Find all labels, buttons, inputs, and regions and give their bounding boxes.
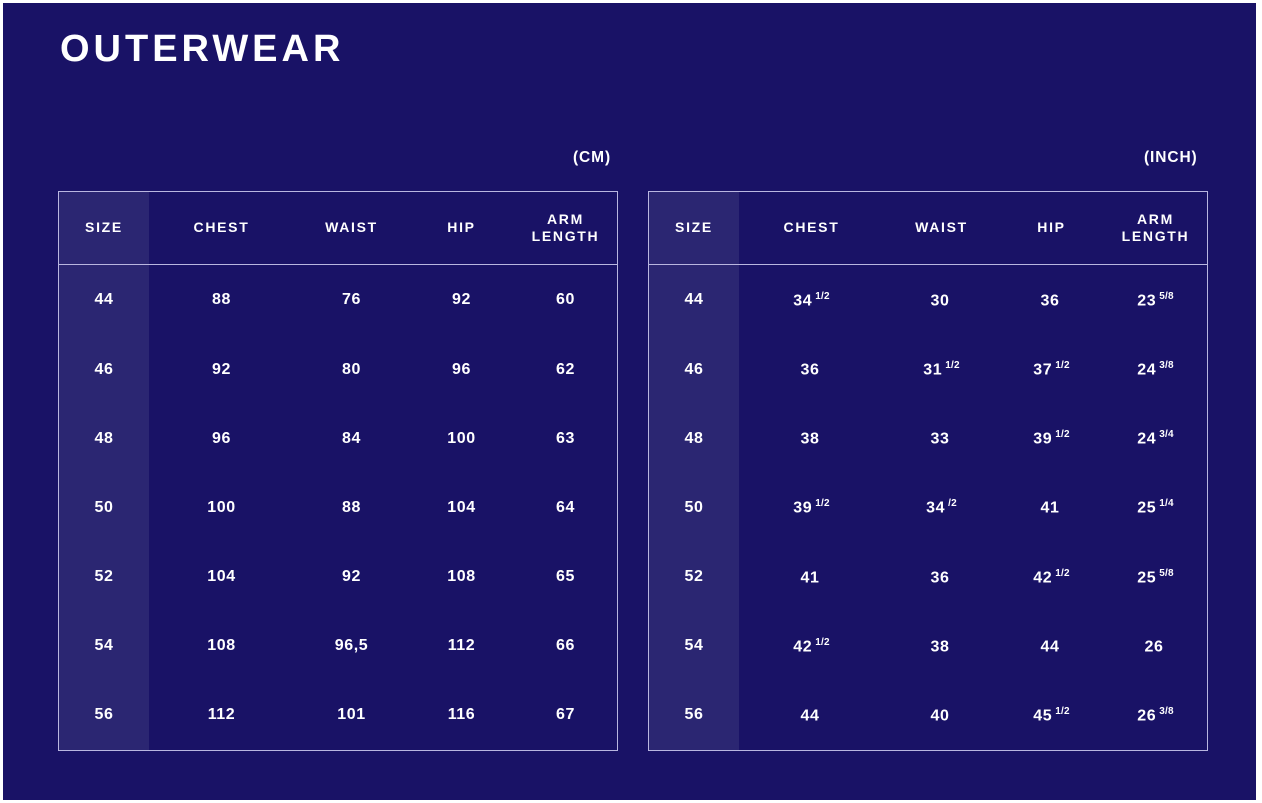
cell-chest: 341/2 bbox=[739, 265, 884, 336]
value: 40 bbox=[931, 707, 950, 724]
cell-hip: 41 bbox=[999, 474, 1104, 543]
table-body-cm: 44 88 76 92 60 46 92 80 96 62 48 96 84 bbox=[59, 265, 617, 751]
fraction: 3/4 bbox=[1159, 429, 1174, 440]
value: 45 bbox=[1033, 707, 1052, 724]
arm-length-line-1: ARM bbox=[547, 211, 584, 227]
value: 39 bbox=[793, 500, 812, 517]
size-chart-page: OUTERWEAR (CM) (INCH) SIZE CHEST WAIST H… bbox=[3, 3, 1256, 800]
value: 33 bbox=[931, 431, 950, 448]
table-header-inch: SIZE CHEST WAIST HIP ARM LENGTH bbox=[649, 192, 1207, 265]
value: 44 bbox=[801, 707, 820, 724]
value: 38 bbox=[931, 638, 950, 655]
unit-label-inch: (INCH) bbox=[1144, 149, 1198, 167]
column-header-hip: HIP bbox=[999, 192, 1104, 265]
cell-hip: 108 bbox=[409, 543, 514, 612]
table-row: 50 100 88 104 64 bbox=[59, 474, 617, 543]
cell-hip: 116 bbox=[409, 681, 514, 750]
value: 36 bbox=[801, 362, 820, 379]
cell-chest: 421/2 bbox=[739, 612, 884, 681]
cell-size: 48 bbox=[649, 404, 739, 473]
cell-chest: 108 bbox=[149, 612, 294, 681]
cell-arm-length: 64 bbox=[514, 474, 617, 543]
value: 34 bbox=[926, 500, 945, 517]
value: 24 bbox=[1137, 362, 1156, 379]
value: 38 bbox=[801, 431, 820, 448]
cell-arm-length: 65 bbox=[514, 543, 617, 612]
column-header-chest: CHEST bbox=[149, 192, 294, 265]
measurements-table-inch: SIZE CHEST WAIST HIP ARM LENGTH 44 341/2… bbox=[649, 192, 1207, 750]
fraction: 1/2 bbox=[815, 498, 830, 509]
cell-waist: 101 bbox=[294, 681, 409, 750]
value: 41 bbox=[1041, 500, 1060, 517]
cell-arm-length: 67 bbox=[514, 681, 617, 750]
table-header-row: SIZE CHEST WAIST HIP ARM LENGTH bbox=[59, 192, 617, 265]
cell-hip: 100 bbox=[409, 405, 514, 474]
value: 25 bbox=[1137, 569, 1156, 586]
fraction: 1/2 bbox=[1055, 568, 1070, 579]
cell-hip: 96 bbox=[409, 336, 514, 405]
table-row: 56 44 40 451/2 263/8 bbox=[649, 681, 1207, 750]
cell-waist: 92 bbox=[294, 543, 409, 612]
cell-chest: 112 bbox=[149, 681, 294, 750]
fraction: 1/2 bbox=[1055, 429, 1070, 440]
column-header-waist: WAIST bbox=[294, 192, 409, 265]
fraction: 1/4 bbox=[1159, 498, 1174, 509]
value: 23 bbox=[1137, 292, 1156, 309]
cell-size: 56 bbox=[649, 681, 739, 750]
cell-chest: 88 bbox=[149, 265, 294, 336]
cell-chest: 104 bbox=[149, 543, 294, 612]
size-table-cm: SIZE CHEST WAIST HIP ARM LENGTH 44 88 76… bbox=[58, 191, 618, 751]
cell-size: 52 bbox=[59, 543, 149, 612]
value: 41 bbox=[801, 569, 820, 586]
cell-chest: 96 bbox=[149, 405, 294, 474]
cell-arm-length: 26 bbox=[1104, 612, 1207, 681]
value: 34 bbox=[793, 292, 812, 309]
cell-arm-length: 263/8 bbox=[1104, 681, 1207, 750]
size-table-inch: SIZE CHEST WAIST HIP ARM LENGTH 44 341/2… bbox=[648, 191, 1208, 751]
fraction: 1/2 bbox=[815, 291, 830, 302]
column-header-chest: CHEST bbox=[739, 192, 884, 265]
column-header-size: SIZE bbox=[59, 192, 149, 265]
fraction: 3/8 bbox=[1159, 360, 1174, 371]
value: 37 bbox=[1033, 362, 1052, 379]
cell-hip: 44 bbox=[999, 612, 1104, 681]
cell-size: 44 bbox=[649, 265, 739, 336]
cell-waist: 311/2 bbox=[884, 335, 999, 404]
cell-waist: 33 bbox=[884, 404, 999, 473]
fraction: 1/2 bbox=[1055, 360, 1070, 371]
value: 26 bbox=[1145, 638, 1164, 655]
value: 42 bbox=[1033, 569, 1052, 586]
cell-size: 46 bbox=[649, 335, 739, 404]
value: 30 bbox=[931, 292, 950, 309]
fraction: 1/2 bbox=[945, 360, 960, 371]
cell-arm-length: 243/8 bbox=[1104, 335, 1207, 404]
table-body-inch: 44 341/2 30 36 235/8 46 36 311/2 371/2 2… bbox=[649, 265, 1207, 751]
table-header-row: SIZE CHEST WAIST HIP ARM LENGTH bbox=[649, 192, 1207, 265]
cell-hip: 112 bbox=[409, 612, 514, 681]
cell-size: 44 bbox=[59, 265, 149, 336]
fraction: 3/8 bbox=[1159, 706, 1174, 717]
column-header-hip: HIP bbox=[409, 192, 514, 265]
cell-hip: 371/2 bbox=[999, 335, 1104, 404]
column-header-waist: WAIST bbox=[884, 192, 999, 265]
page-title: OUTERWEAR bbox=[60, 30, 344, 68]
cell-hip: 391/2 bbox=[999, 404, 1104, 473]
table-row: 52 41 36 421/2 255/8 bbox=[649, 543, 1207, 612]
column-header-arm-length: ARM LENGTH bbox=[1104, 192, 1207, 265]
cell-waist: 96,5 bbox=[294, 612, 409, 681]
cell-arm-length: 235/8 bbox=[1104, 265, 1207, 336]
cell-waist: 34/2 bbox=[884, 474, 999, 543]
table-row: 48 96 84 100 63 bbox=[59, 405, 617, 474]
cell-arm-length: 255/8 bbox=[1104, 543, 1207, 612]
table-row: 54 421/2 38 44 26 bbox=[649, 612, 1207, 681]
cell-size: 54 bbox=[59, 612, 149, 681]
column-header-size: SIZE bbox=[649, 192, 739, 265]
value: 39 bbox=[1033, 431, 1052, 448]
cell-chest: 100 bbox=[149, 474, 294, 543]
fraction: 1/2 bbox=[1055, 706, 1070, 717]
value: 36 bbox=[1041, 292, 1060, 309]
cell-chest: 391/2 bbox=[739, 474, 884, 543]
cell-arm-length: 60 bbox=[514, 265, 617, 336]
cell-arm-length: 62 bbox=[514, 336, 617, 405]
cell-hip: 451/2 bbox=[999, 681, 1104, 750]
cell-arm-length: 66 bbox=[514, 612, 617, 681]
cell-waist: 84 bbox=[294, 405, 409, 474]
unit-label-cm: (CM) bbox=[573, 149, 611, 167]
cell-size: 52 bbox=[649, 543, 739, 612]
table-row: 52 104 92 108 65 bbox=[59, 543, 617, 612]
value: 36 bbox=[931, 569, 950, 586]
cell-waist: 40 bbox=[884, 681, 999, 750]
measurements-table-cm: SIZE CHEST WAIST HIP ARM LENGTH 44 88 76… bbox=[59, 192, 617, 750]
cell-chest: 44 bbox=[739, 681, 884, 750]
value: 44 bbox=[1041, 638, 1060, 655]
cell-waist: 80 bbox=[294, 336, 409, 405]
value: 25 bbox=[1137, 500, 1156, 517]
table-row: 54 108 96,5 112 66 bbox=[59, 612, 617, 681]
table-row: 56 112 101 116 67 bbox=[59, 681, 617, 750]
table-row: 44 88 76 92 60 bbox=[59, 265, 617, 336]
arm-length-line-2: LENGTH bbox=[1122, 228, 1190, 244]
cell-arm-length: 251/4 bbox=[1104, 474, 1207, 543]
fraction: /2 bbox=[948, 498, 957, 509]
arm-length-line-1: ARM bbox=[1137, 211, 1174, 227]
fraction: 1/2 bbox=[815, 637, 830, 648]
cell-waist: 76 bbox=[294, 265, 409, 336]
cell-size: 50 bbox=[59, 474, 149, 543]
table-header-cm: SIZE CHEST WAIST HIP ARM LENGTH bbox=[59, 192, 617, 265]
cell-arm-length: 243/4 bbox=[1104, 404, 1207, 473]
cell-chest: 36 bbox=[739, 335, 884, 404]
table-row: 50 391/2 34/2 41 251/4 bbox=[649, 474, 1207, 543]
table-row: 48 38 33 391/2 243/4 bbox=[649, 404, 1207, 473]
cell-size: 50 bbox=[649, 474, 739, 543]
cell-size: 46 bbox=[59, 336, 149, 405]
value: 26 bbox=[1137, 707, 1156, 724]
table-row: 44 341/2 30 36 235/8 bbox=[649, 265, 1207, 336]
cell-waist: 30 bbox=[884, 265, 999, 336]
value: 31 bbox=[923, 362, 942, 379]
cell-size: 48 bbox=[59, 405, 149, 474]
value: 24 bbox=[1137, 431, 1156, 448]
column-header-arm-length: ARM LENGTH bbox=[514, 192, 617, 265]
value: 42 bbox=[793, 638, 812, 655]
cell-waist: 38 bbox=[884, 612, 999, 681]
cell-chest: 38 bbox=[739, 404, 884, 473]
cell-chest: 92 bbox=[149, 336, 294, 405]
cell-hip: 36 bbox=[999, 265, 1104, 336]
fraction: 5/8 bbox=[1159, 291, 1174, 302]
cell-hip: 104 bbox=[409, 474, 514, 543]
table-row: 46 92 80 96 62 bbox=[59, 336, 617, 405]
cell-chest: 41 bbox=[739, 543, 884, 612]
cell-hip: 421/2 bbox=[999, 543, 1104, 612]
cell-size: 54 bbox=[649, 612, 739, 681]
fraction: 5/8 bbox=[1159, 568, 1174, 579]
cell-size: 56 bbox=[59, 681, 149, 750]
cell-waist: 88 bbox=[294, 474, 409, 543]
cell-hip: 92 bbox=[409, 265, 514, 336]
table-row: 46 36 311/2 371/2 243/8 bbox=[649, 335, 1207, 404]
cell-waist: 36 bbox=[884, 543, 999, 612]
cell-arm-length: 63 bbox=[514, 405, 617, 474]
arm-length-line-2: LENGTH bbox=[532, 228, 600, 244]
